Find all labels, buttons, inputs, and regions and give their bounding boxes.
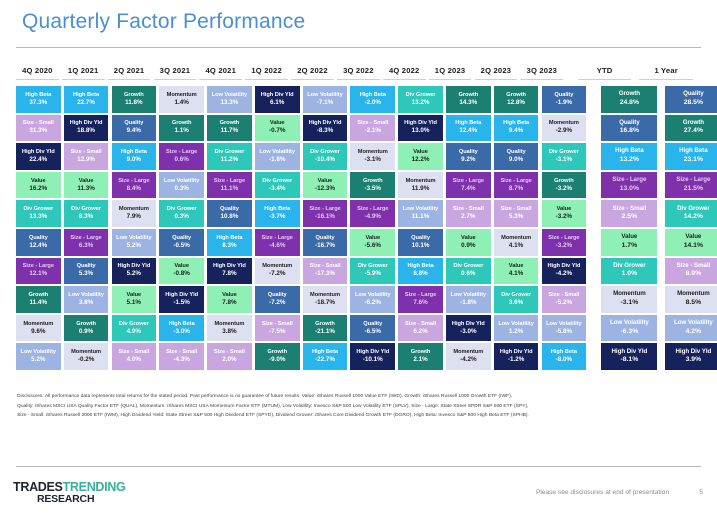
- cell-factor-name: Div Grower: [119, 321, 149, 327]
- heatmap-cell[interactable]: High Div Yld13.0%: [398, 115, 443, 142]
- cell-factor-name: Momentum: [677, 291, 710, 298]
- cell-factor-name: Low Volatility: [546, 321, 582, 327]
- heatmap-cell[interactable]: Quality-0.5%: [159, 229, 204, 256]
- cell-factor-value: 5.2%: [127, 242, 141, 250]
- heatmap-cell[interactable]: Size - Large-4.6%: [255, 229, 300, 256]
- cell-factor-value: -21.1%: [315, 328, 335, 336]
- cell-factor-value: 8.3%: [79, 213, 93, 221]
- cell-factor-value: -3.2%: [556, 185, 572, 193]
- cell-factor-value: 13.0%: [620, 185, 639, 193]
- cell-factor-name: Momentum: [262, 263, 292, 269]
- heatmap-cell[interactable]: Div Grower11.2%: [207, 143, 252, 170]
- cell-factor-name: High Beta: [408, 263, 434, 269]
- heatmap-cell[interactable]: Size - Large7.4%: [446, 172, 491, 199]
- cell-factor-name: Size - Large: [453, 178, 484, 184]
- cell-factor-name: Growth: [267, 349, 287, 355]
- heatmap-cell[interactable]: Growth-3.2%: [542, 172, 587, 199]
- cell-factor-name: Momentum: [406, 178, 436, 184]
- heatmap-cell[interactable]: Low Volatility4.2%: [665, 315, 717, 342]
- heatmap-cell[interactable]: Size - Small12.9%: [64, 143, 109, 170]
- cell-factor-value: -8.1%: [620, 356, 638, 364]
- heatmap-cell[interactable]: High Beta23.1%: [665, 143, 717, 170]
- cell-factor-value: 14.3%: [459, 99, 477, 107]
- heatmap-cell[interactable]: Value14.1%: [665, 229, 717, 256]
- cell-factor-value: -2.9%: [556, 127, 572, 135]
- cell-factor-value: -3.1%: [556, 156, 572, 164]
- cell-factor-value: 13.3%: [29, 213, 47, 221]
- heatmap-column: Growth11.8%Quality9.4%High Beta9.0%Size …: [112, 86, 157, 372]
- heatmap-cell[interactable]: High Div Yld-1.2%: [494, 343, 539, 370]
- cell-factor-name: Low Volatility: [212, 92, 248, 98]
- cell-factor-value: -3.0%: [460, 328, 476, 336]
- heatmap-cell[interactable]: Low Volatility-6.3%: [601, 315, 657, 342]
- cell-factor-name: Div Grower: [613, 263, 646, 270]
- cell-factor-name: Size - Large: [612, 177, 646, 184]
- heatmap-cell[interactable]: Growth-9.0%: [255, 343, 300, 370]
- heatmap-cell[interactable]: Low Volatility-7.1%: [303, 86, 348, 113]
- heatmap-cell[interactable]: Size - Small5.3%: [494, 200, 539, 227]
- heatmap-cell[interactable]: Momentum-3.1%: [350, 143, 395, 170]
- cell-factor-name: High Div Yld: [547, 263, 580, 269]
- heatmap-cell[interactable]: Div Grower1.0%: [601, 258, 657, 285]
- heatmap-cell[interactable]: Size - Large-4.9%: [350, 200, 395, 227]
- heatmap-cell[interactable]: Momentum-18.7%: [303, 286, 348, 313]
- heatmap-cell[interactable]: Momentum-0.2%: [64, 343, 109, 370]
- heatmap-cell[interactable]: Quality-1.9%: [542, 86, 587, 113]
- heatmap-cell[interactable]: Value-12.3%: [303, 172, 348, 199]
- heatmap-cell[interactable]: Size - Large-3.2%: [542, 229, 587, 256]
- heatmap-cell[interactable]: Momentum1.4%: [159, 86, 204, 113]
- cell-factor-name: High Beta: [216, 235, 242, 241]
- heatmap-cell[interactable]: Growth12.8%: [494, 86, 539, 113]
- heatmap-cell[interactable]: Momentum9.6%: [16, 315, 61, 342]
- cell-factor-name: Low Volatility: [355, 292, 391, 298]
- cell-factor-name: Value: [621, 234, 637, 241]
- cell-factor-value: 5.3%: [509, 213, 523, 221]
- cell-factor-name: High Div Yld: [356, 349, 389, 355]
- column-header-3q-2021: 3Q 2021: [154, 62, 197, 80]
- cell-factor-value: 3.8%: [222, 328, 236, 336]
- heatmap-column: High Beta22.7%High Div Yld18.8%Size - Sm…: [64, 86, 109, 372]
- heatmap-cell[interactable]: Size - Small-7.5%: [255, 315, 300, 342]
- heatmap-cell[interactable]: Momentum8.5%: [665, 286, 717, 313]
- heatmap-cell[interactable]: Growth11.4%: [16, 286, 61, 313]
- heatmap-cell[interactable]: Value5.1%: [112, 286, 157, 313]
- heatmap-cell[interactable]: Growth2.1%: [398, 343, 443, 370]
- heatmap-cell[interactable]: Growth-3.5%: [350, 172, 395, 199]
- cell-factor-name: Momentum: [167, 92, 197, 98]
- cell-factor-value: 5.1%: [127, 299, 141, 307]
- heatmap-cell[interactable]: High Beta22.7%: [64, 86, 109, 113]
- cell-factor-name: Low Volatility: [164, 178, 200, 184]
- cell-factor-name: High Beta: [169, 321, 195, 327]
- cell-factor-name: Size - Small: [262, 321, 293, 327]
- cell-factor-value: 12.4%: [29, 242, 47, 250]
- heatmap-cell[interactable]: Size - Large7.6%: [398, 286, 443, 313]
- cell-factor-name: Growth: [220, 120, 240, 126]
- heatmap-cell[interactable]: Quality5.3%: [64, 258, 109, 285]
- cell-factor-value: -3.4%: [269, 185, 285, 193]
- cell-factor-value: -22.7%: [315, 356, 335, 364]
- heatmap-cell[interactable]: Size - Large8.7%: [494, 172, 539, 199]
- logo-word-research: RESEARCH: [37, 494, 125, 505]
- heatmap-cell[interactable]: Value7.8%: [207, 286, 252, 313]
- heatmap-cell[interactable]: Growth14.3%: [446, 86, 491, 113]
- cell-factor-name: Low Volatility: [610, 320, 649, 327]
- cell-factor-value: 24.8%: [620, 99, 639, 107]
- heatmap-cell[interactable]: Size - Small-5.2%: [542, 286, 587, 313]
- heatmap-cell[interactable]: Div Grower4.9%: [112, 315, 157, 342]
- heatmap-cell[interactable]: Size - Small-4.3%: [159, 343, 204, 370]
- heatmap-cell[interactable]: Low Volatility13.3%: [207, 86, 252, 113]
- cell-factor-value: 13.0%: [412, 127, 430, 135]
- heatmap-cell[interactable]: High Div Yld-4.2%: [542, 258, 587, 285]
- heatmap-cell[interactable]: Size - Large6.3%: [64, 229, 109, 256]
- heatmap-cell[interactable]: High Beta9.4%: [494, 115, 539, 142]
- cell-factor-name: High Beta: [551, 349, 577, 355]
- cell-factor-name: Momentum: [613, 291, 646, 298]
- heatmap-cell[interactable]: Quality9.0%: [494, 143, 539, 170]
- heatmap-cell[interactable]: Low Volatility-1.8%: [255, 143, 300, 170]
- cell-factor-name: Div Grower: [358, 263, 388, 269]
- heatmap-cell[interactable]: High Div Yld22.4%: [16, 143, 61, 170]
- cell-factor-value: 13.2%: [620, 156, 639, 164]
- heatmap-cell[interactable]: Div Grower-10.4%: [303, 143, 348, 170]
- cell-factor-name: Momentum: [23, 321, 53, 327]
- cell-factor-value: -17.3%: [315, 270, 335, 278]
- heatmap-cell[interactable]: Quality9.2%: [446, 143, 491, 170]
- heatmap-cell[interactable]: Low Volatility3.8%: [64, 286, 109, 313]
- heatmap-cell[interactable]: High Beta-3.7%: [255, 200, 300, 227]
- cell-factor-value: 0.3%: [174, 213, 188, 221]
- cell-factor-value: 9.2%: [461, 156, 475, 164]
- heatmap-cell[interactable]: Momentum-4.2%: [446, 343, 491, 370]
- cell-factor-name: High Beta: [312, 349, 338, 355]
- cell-factor-name: Quality: [554, 92, 573, 98]
- cell-factor-name: Momentum: [453, 349, 483, 355]
- cell-factor-value: 4.9%: [127, 328, 141, 336]
- heatmap-cell[interactable]: Div Grower0.3%: [159, 200, 204, 227]
- heatmap-column: Growth24.8%Quality16.8%High Beta13.2%Siz…: [601, 86, 657, 372]
- cell-factor-name: High Div Yld: [22, 149, 55, 155]
- cell-factor-value: 8.7%: [509, 185, 523, 193]
- cell-factor-name: Growth: [315, 321, 335, 327]
- heatmap-cell[interactable]: Low Volatility11.1%: [398, 200, 443, 227]
- cell-factor-name: Quality: [268, 292, 287, 298]
- cell-factor-name: High Beta: [615, 148, 643, 155]
- heatmap-cell[interactable]: Div Grower8.3%: [64, 200, 109, 227]
- heatmap-cell[interactable]: Momentum4.1%: [494, 229, 539, 256]
- heatmap-cell[interactable]: Size - Small-17.3%: [303, 258, 348, 285]
- cell-factor-name: Value: [79, 178, 94, 184]
- heatmap-cell[interactable]: Low Volatility0.3%: [159, 172, 204, 199]
- heatmap-cell[interactable]: Div Grower13.2%: [398, 86, 443, 113]
- cell-factor-value: -3.2%: [556, 213, 572, 221]
- disclosure-line-3: Size - Small: iShares Russell 2000 ETF (…: [17, 411, 703, 421]
- cell-factor-name: High Div Yld: [165, 292, 198, 298]
- cell-factor-value: 9.4%: [127, 127, 141, 135]
- heatmap-cell[interactable]: High Div Yld-8.3%: [303, 115, 348, 142]
- cell-factor-name: High Beta: [25, 92, 51, 98]
- heatmap-cell[interactable]: Size - Large-16.1%: [303, 200, 348, 227]
- heatmap-cell[interactable]: Size - Large8.4%: [112, 172, 157, 199]
- heatmap-cell[interactable]: Value1.7%: [601, 229, 657, 256]
- cell-factor-name: Growth: [172, 120, 192, 126]
- heatmap-cell[interactable]: Quality12.4%: [16, 229, 61, 256]
- cell-factor-name: Growth: [619, 91, 640, 98]
- heatmap-cell[interactable]: Size - Large11.1%: [207, 172, 252, 199]
- cell-factor-value: 11.1%: [221, 185, 239, 193]
- heatmap-cell[interactable]: Div Grower13.3%: [16, 200, 61, 227]
- cell-factor-name: Quality: [619, 120, 640, 127]
- heatmap-cell[interactable]: High Beta-8.0%: [542, 343, 587, 370]
- cell-factor-value: -0.8%: [173, 270, 189, 278]
- heatmap-cell[interactable]: Size - Small4.0%: [112, 343, 157, 370]
- cell-factor-name: High Beta: [679, 148, 707, 155]
- heatmap-cell[interactable]: Value16.2%: [16, 172, 61, 199]
- column-header-1-year: 1 Year: [639, 62, 693, 80]
- cell-factor-value: 9.4%: [509, 127, 523, 135]
- cell-factor-name: Size - Large: [500, 178, 531, 184]
- heatmap-cell[interactable]: High Beta37.3%: [16, 86, 61, 113]
- cell-factor-name: Size - Large: [118, 178, 149, 184]
- heatmap-cell[interactable]: Size - Small31.3%: [16, 115, 61, 142]
- cell-factor-value: -2.0%: [365, 99, 381, 107]
- heatmap-cell[interactable]: High Div Yld5.2%: [112, 258, 157, 285]
- cell-factor-name: High Beta: [121, 149, 147, 155]
- heatmap-cell[interactable]: High Beta13.2%: [601, 143, 657, 170]
- heatmap-column: Low Volatility13.3%Growth11.7%Div Grower…: [207, 86, 252, 372]
- cell-factor-value: -5.9%: [365, 270, 381, 278]
- cell-factor-value: 7.8%: [222, 299, 236, 307]
- cell-factor-value: -10.4%: [315, 156, 335, 164]
- heatmap-cell[interactable]: Momentum-3.1%: [601, 286, 657, 313]
- cell-factor-value: -3.5%: [365, 185, 381, 193]
- cell-factor-name: High Div Yld: [452, 321, 485, 327]
- heatmap-cell[interactable]: Quality10.8%: [207, 200, 252, 227]
- brand-logo: TRADESTRENDING RESEARCH: [13, 481, 125, 504]
- heatmap-cell[interactable]: High Div Yld3.9%: [665, 343, 717, 370]
- disclosures-block: Disclosures: All performance data repres…: [17, 392, 703, 421]
- heatmap-cell[interactable]: Low Volatility-5.8%: [542, 315, 587, 342]
- heatmap-column: Quality-1.9%Momentum-2.9%Div Grower-3.1%…: [542, 86, 587, 372]
- heatmap-cell[interactable]: Size - Small2.7%: [446, 200, 491, 227]
- cell-factor-name: Growth: [459, 92, 479, 98]
- heatmap-cell[interactable]: Value4.1%: [494, 258, 539, 285]
- column-header-2q-2021: 2Q 2021: [108, 62, 151, 80]
- heatmap-cell[interactable]: Size - Small8.9%: [665, 258, 717, 285]
- cell-factor-value: 10.8%: [220, 213, 238, 221]
- heatmap-cell[interactable]: High Div Yld-8.1%: [601, 343, 657, 370]
- cell-factor-value: -18.7%: [315, 299, 335, 307]
- cell-factor-value: 37.3%: [29, 99, 47, 107]
- cell-factor-value: -3.1%: [620, 299, 638, 307]
- cell-factor-name: High Div Yld: [70, 120, 103, 126]
- cell-factor-value: 8.8%: [413, 270, 427, 278]
- cell-factor-name: Size - Small: [501, 206, 532, 212]
- heatmap-cell[interactable]: High Beta12.4%: [446, 115, 491, 142]
- cell-factor-value: 10.1%: [412, 242, 430, 250]
- cell-factor-name: Div Grower: [453, 263, 483, 269]
- heatmap-cell[interactable]: Size - Large21.5%: [665, 172, 717, 199]
- cell-factor-name: Quality: [124, 120, 143, 126]
- heatmap-cell[interactable]: Growth11.7%: [207, 115, 252, 142]
- cell-factor-value: 14.2%: [684, 213, 703, 221]
- cell-factor-value: 6.1%: [270, 99, 284, 107]
- heatmap-cell[interactable]: Growth11.8%: [112, 86, 157, 113]
- heatmap-cell[interactable]: Size - Large13.0%: [601, 172, 657, 199]
- heatmap-cell[interactable]: High Beta8.3%: [207, 229, 252, 256]
- heatmap-cell[interactable]: Momentum3.8%: [207, 315, 252, 342]
- heatmap-column: High Beta-2.0%Size - Small-2.1%Momentum-…: [350, 86, 395, 372]
- cell-factor-value: 8.5%: [686, 299, 702, 307]
- heatmap-cell[interactable]: High Beta9.0%: [112, 143, 157, 170]
- cell-factor-name: Size - Large: [309, 206, 340, 212]
- heatmap-cell[interactable]: High Div Yld18.8%: [64, 115, 109, 142]
- cell-factor-name: Div Grower: [262, 178, 292, 184]
- heatmap-cell[interactable]: High Div Yld-3.0%: [446, 315, 491, 342]
- cell-factor-value: 12.4%: [459, 127, 477, 135]
- cell-factor-name: Div Grower: [23, 206, 53, 212]
- cell-factor-value: 7.9%: [127, 213, 141, 221]
- cell-factor-name: Momentum: [358, 149, 388, 155]
- cell-factor-value: 11.3%: [77, 185, 95, 193]
- cell-factor-name: Quality: [220, 206, 239, 212]
- heatmap-cell[interactable]: Value-3.2%: [542, 200, 587, 227]
- heatmap-cell[interactable]: Growth-21.1%: [303, 315, 348, 342]
- cell-factor-value: -3.0%: [173, 328, 189, 336]
- heatmap-cell[interactable]: Growth0.9%: [64, 315, 109, 342]
- heatmap-cell[interactable]: Value11.3%: [64, 172, 109, 199]
- heatmap-cell[interactable]: Div Grower-3.4%: [255, 172, 300, 199]
- cell-factor-value: 27.4%: [684, 127, 703, 135]
- heatmap-cell[interactable]: Value-5.6%: [350, 229, 395, 256]
- disclosure-line-1: Disclosures: All performance data repres…: [17, 392, 703, 402]
- heatmap-cell[interactable]: Quality9.4%: [112, 115, 157, 142]
- cell-factor-name: Div Grower: [549, 149, 579, 155]
- heatmap-cell[interactable]: Low Volatility-1.8%: [446, 286, 491, 313]
- heatmap-cell[interactable]: Value12.2%: [398, 143, 443, 170]
- heatmap-cell[interactable]: Value0.9%: [446, 229, 491, 256]
- heatmap-cell[interactable]: Size - Small2.0%: [207, 343, 252, 370]
- cell-factor-name: Low Volatility: [451, 292, 487, 298]
- cell-factor-value: 3.6%: [509, 299, 523, 307]
- cell-factor-name: Size - Large: [214, 178, 245, 184]
- cell-factor-value: 8.3%: [222, 242, 236, 250]
- heatmap-column: Quality28.5%Growth27.4%High Beta23.1%Siz…: [665, 86, 717, 372]
- heatmap-cell[interactable]: Quality-6.5%: [350, 315, 395, 342]
- heatmap-cell[interactable]: Size - Large0.6%: [159, 143, 204, 170]
- heatmap-cell[interactable]: High Beta8.8%: [398, 258, 443, 285]
- cell-factor-value: -16.7%: [315, 242, 335, 250]
- cell-factor-name: High Div Yld: [261, 92, 294, 98]
- heatmap-column: Growth14.3%High Beta12.4%Quality9.2%Size…: [446, 86, 491, 372]
- cell-factor-name: Size - Small: [405, 321, 436, 327]
- heatmap-cell[interactable]: Quality-16.7%: [303, 229, 348, 256]
- heatmap-cell[interactable]: Growth27.4%: [665, 115, 717, 142]
- heatmap-cell[interactable]: Value-0.8%: [159, 258, 204, 285]
- heatmap-cell[interactable]: Quality-7.2%: [255, 286, 300, 313]
- heatmap-cell[interactable]: Size - Small6.2%: [398, 315, 443, 342]
- column-header-row: 4Q 20201Q 20212Q 20213Q 20214Q 20211Q 20…: [16, 62, 701, 80]
- heatmap-cell[interactable]: High Div Yld7.8%: [207, 258, 252, 285]
- column-header-4q-2020: 4Q 2020: [16, 62, 59, 80]
- cell-factor-value: 9.6%: [31, 328, 45, 336]
- heatmap-cell[interactable]: Quality28.5%: [665, 86, 717, 113]
- heatmap-cell[interactable]: Size - Small-2.1%: [350, 115, 395, 142]
- cell-factor-value: -5.2%: [556, 299, 572, 307]
- cell-factor-name: Div Grower: [677, 206, 710, 213]
- heatmap-cell[interactable]: Div Grower3.6%: [494, 286, 539, 313]
- column-header-2q-2022: 2Q 2022: [291, 62, 334, 80]
- column-header-1q-2022: 1Q 2022: [245, 62, 288, 80]
- cell-factor-value: -4.6%: [269, 242, 285, 250]
- cell-factor-value: -8.0%: [556, 356, 572, 364]
- heatmap-cell[interactable]: Size - Small2.5%: [601, 200, 657, 227]
- heatmap-cell[interactable]: High Beta-3.0%: [159, 315, 204, 342]
- cell-factor-value: 13.2%: [412, 99, 430, 107]
- logo-word-trending: TRENDING: [63, 480, 126, 494]
- heatmap-cell[interactable]: Low Volatility5.2%: [16, 343, 61, 370]
- heatmap-cell[interactable]: High Beta-2.0%: [350, 86, 395, 113]
- heatmap-cell[interactable]: High Div Yld-10.1%: [350, 343, 395, 370]
- heatmap-cell[interactable]: Growth1.1%: [159, 115, 204, 142]
- heatmap-cell[interactable]: Quality10.1%: [398, 229, 443, 256]
- heatmap-cell[interactable]: High Div Yld-1.5%: [159, 286, 204, 313]
- heatmap-column: Growth12.8%High Beta9.4%Quality9.0%Size …: [494, 86, 539, 372]
- heatmap-cell[interactable]: Momentum-2.9%: [542, 115, 587, 142]
- heatmap-cell[interactable]: Value-0.7%: [255, 115, 300, 142]
- cell-factor-name: Momentum: [310, 292, 340, 298]
- heatmap-cell[interactable]: High Beta-22.7%: [303, 343, 348, 370]
- heatmap-cell[interactable]: Quality16.8%: [601, 115, 657, 142]
- heatmap-cell[interactable]: Div Grower0.6%: [446, 258, 491, 285]
- cell-factor-value: 0.6%: [174, 156, 188, 164]
- cell-factor-value: 9.0%: [509, 156, 523, 164]
- heatmap-cell[interactable]: Div Grower-5.9%: [350, 258, 395, 285]
- heatmap-cell[interactable]: Low Volatility-6.2%: [350, 286, 395, 313]
- cell-factor-value: -6.2%: [365, 299, 381, 307]
- cell-factor-value: 2.5%: [622, 213, 638, 221]
- cell-factor-name: Value: [413, 149, 428, 155]
- heatmap-cell[interactable]: Size - Large12.1%: [16, 258, 61, 285]
- cell-factor-value: -7.2%: [269, 299, 285, 307]
- cell-factor-name: Low Volatility: [68, 292, 104, 298]
- cell-factor-value: -9.0%: [269, 356, 285, 364]
- heatmap-cell[interactable]: Div Grower-3.1%: [542, 143, 587, 170]
- heatmap-cell[interactable]: Momentum-7.2%: [255, 258, 300, 285]
- cell-factor-value: -12.3%: [315, 185, 335, 193]
- cell-factor-value: 7.6%: [413, 299, 427, 307]
- cell-factor-name: Quality: [316, 235, 335, 241]
- cell-factor-name: Low Volatility: [259, 149, 295, 155]
- heatmap-cell[interactable]: Div Grower14.2%: [665, 200, 717, 227]
- cell-factor-name: Quality: [683, 91, 704, 98]
- cell-factor-value: 4.1%: [509, 270, 523, 278]
- cell-factor-name: Div Grower: [71, 206, 101, 212]
- cell-factor-name: Size - Small: [214, 349, 245, 355]
- cell-factor-name: Momentum: [214, 321, 244, 327]
- heatmap-cell[interactable]: Low Volatility5.2%: [112, 229, 157, 256]
- heatmap-cell[interactable]: Momentum7.9%: [112, 200, 157, 227]
- page-number: 5: [699, 489, 703, 496]
- cell-factor-value: 1.1%: [174, 127, 188, 135]
- heatmap-cell[interactable]: Low Volatility1.2%: [494, 315, 539, 342]
- cell-factor-value: -1.8%: [269, 156, 285, 164]
- heatmap-cell[interactable]: High Div Yld6.1%: [255, 86, 300, 113]
- heatmap-cell[interactable]: Growth24.8%: [601, 86, 657, 113]
- heatmap-cell[interactable]: Momentum11.9%: [398, 172, 443, 199]
